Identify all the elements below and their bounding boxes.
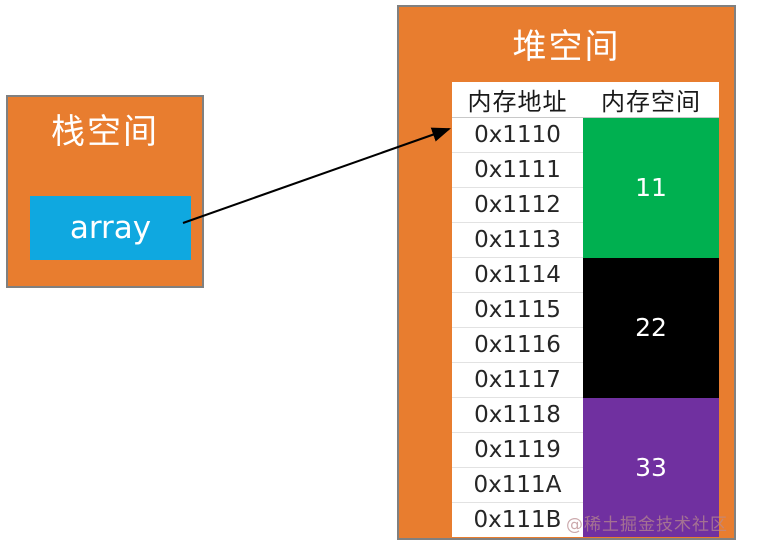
stack-space-title: 栈空间 bbox=[8, 111, 202, 153]
heap-space-box: 堆空间 内存地址 内存空间 0x1110 11 0x1111 bbox=[397, 5, 736, 540]
address-cell: 0x1114 bbox=[452, 258, 583, 293]
memory-table-body: 0x1110 11 0x1111 0x1112 0x1113 0x1114 22 bbox=[452, 118, 719, 538]
address-cell: 0x111A bbox=[452, 468, 583, 503]
memory-table-head: 内存地址 内存空间 bbox=[452, 82, 719, 118]
address-cell: 0x1118 bbox=[452, 398, 583, 433]
value-cell-11: 11 bbox=[583, 118, 719, 258]
address-cell: 0x1116 bbox=[452, 328, 583, 363]
table-row: 0x1114 22 bbox=[452, 258, 719, 293]
address-cell: 0x1112 bbox=[452, 188, 583, 223]
address-cell: 0x1115 bbox=[452, 293, 583, 328]
header-memory-space: 内存空间 bbox=[583, 82, 719, 118]
memory-table: 内存地址 内存空间 0x1110 11 0x1111 0x1112 0x1113 bbox=[452, 82, 719, 537]
address-cell: 0x111B bbox=[452, 503, 583, 538]
header-memory-address: 内存地址 bbox=[452, 82, 583, 118]
value-cell-22: 22 bbox=[583, 258, 719, 398]
address-cell: 0x1111 bbox=[452, 153, 583, 188]
address-cell: 0x1110 bbox=[452, 118, 583, 153]
diagram-canvas: 栈空间 array 堆空间 内存地址 内存空间 0x1110 11 bbox=[0, 0, 773, 550]
heap-space-title: 堆空间 bbox=[399, 25, 734, 69]
array-variable-label: array bbox=[70, 211, 151, 245]
stack-space-box: 栈空间 array bbox=[6, 95, 204, 288]
table-row: 0x1118 33 bbox=[452, 398, 719, 433]
address-cell: 0x1117 bbox=[452, 363, 583, 398]
array-variable-box: array bbox=[30, 196, 191, 260]
watermark-text: @稀土掘金技术社区 bbox=[566, 510, 728, 535]
table-row: 0x1110 11 bbox=[452, 118, 719, 153]
address-cell: 0x1113 bbox=[452, 223, 583, 258]
address-cell: 0x1119 bbox=[452, 433, 583, 468]
table-header-row: 内存地址 内存空间 bbox=[452, 82, 719, 118]
